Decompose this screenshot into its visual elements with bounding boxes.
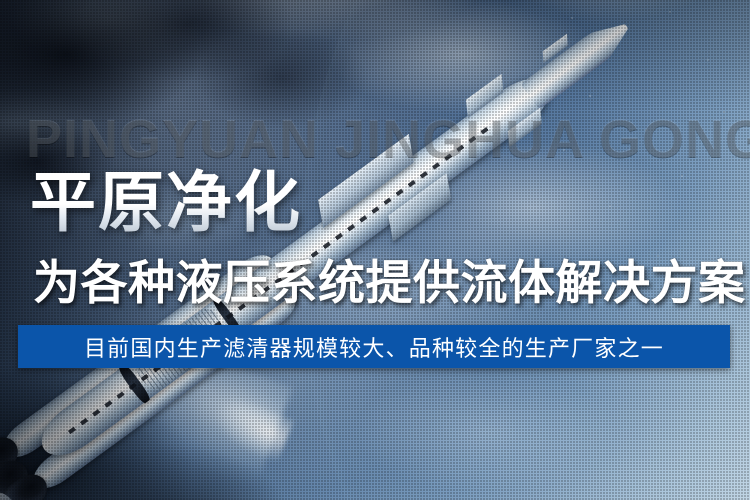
page-subtitle: 为各种液压系统提供流体解决方案	[33, 258, 746, 309]
page-title: 平原净化	[30, 168, 302, 237]
tagline-text: 目前国内生产滤清器规模较大、品种较全的生产厂家之一	[84, 331, 664, 363]
pinyin-watermark: PINGYUAN JINGHUA GONGSI	[26, 112, 750, 166]
tagline-band: 目前国内生产滤清器规模较大、品种较全的生产厂家之一	[18, 325, 730, 368]
banner-text-layer: PINGYUAN JINGHUA GONGSI 平原净化 为各种液压系统提供流体…	[0, 0, 750, 500]
hero-banner: PINGYUAN JINGHUA GONGSI 平原净化 为各种液压系统提供流体…	[0, 0, 750, 500]
